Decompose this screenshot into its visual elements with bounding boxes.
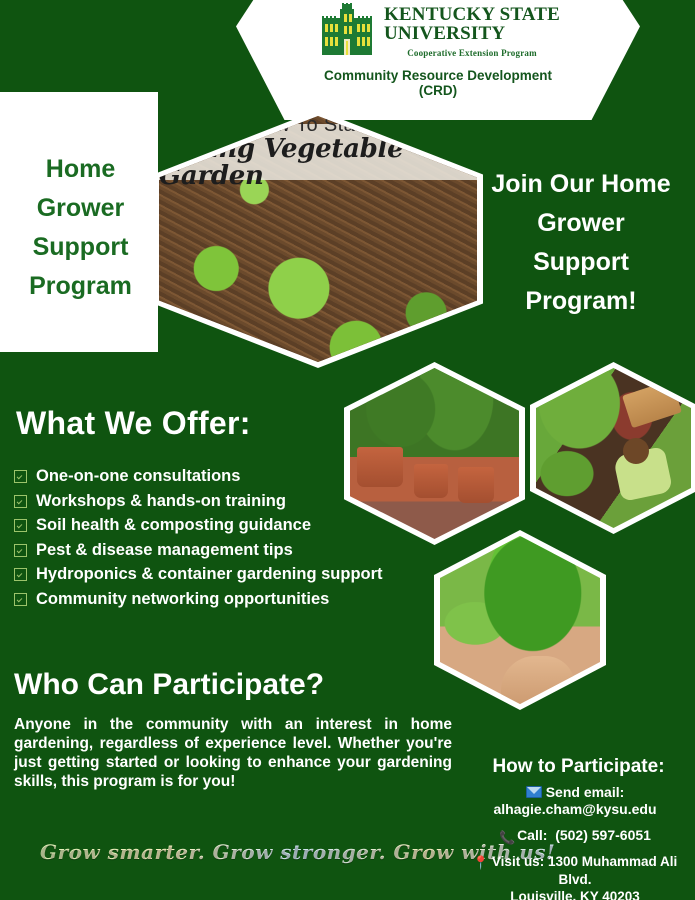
list-item: Pest & disease management tips [14,540,474,560]
address-line-3: Louisville, KY 40203 [455,888,695,900]
phone-label: Call: [517,827,547,843]
logo-row: KENTUCKY STATE UNIVERSITY Cooperative Ex… [316,2,560,65]
list-item-label: Community networking opportunities [36,589,329,609]
university-line-2: UNIVERSITY [384,24,560,43]
left-panel-line-1: Home [8,150,153,189]
list-item: Workshops & hands-on training [14,491,474,511]
list-item-label: Workshops & hands-on training [36,491,286,511]
left-panel-line-2: Grower [8,189,153,228]
checkbox-icon [14,495,27,508]
spacer [455,844,695,853]
hero-caption-line2: Spring Vegetable Garden [159,136,477,190]
hero-photo: How To Start A Spring Vegetable Garden [159,116,477,362]
department-line-1: Community Resource Development [324,68,552,83]
phone-value: (502) 597-6051 [555,827,651,843]
spacer [455,818,695,827]
list-item-label: Soil health & composting guidance [36,515,311,535]
checkbox-icon [14,519,27,532]
left-panel-line-3: Support [8,228,153,267]
offer-list: One-on-one consultations Workshops & han… [14,466,474,613]
address-label: Visit us: [492,854,544,869]
contact-title: How to Participate: [466,756,691,778]
left-panel-text: Home Grower Support Program [8,150,153,306]
contact-phone-row[interactable]: 📞Call: (502) 597-6051 [455,827,695,844]
list-item-label: Hydroponics & container gardening suppor… [36,564,383,584]
list-item: Soil health & composting guidance [14,515,474,535]
contact-email-value[interactable]: alhagie.cham@kysu.edu [455,801,695,818]
contact-address-row[interactable]: 📍Visit us: 1300 Muhammad Ali [455,853,695,871]
university-name: KENTUCKY STATE UNIVERSITY Cooperative Ex… [384,5,560,63]
department-line-2: (CRD) [324,83,552,98]
email-label: Send email: [546,784,625,800]
flyer-page: How To Start A Spring Vegetable Garden H… [0,0,695,900]
contact-email-row[interactable]: Send email: [455,784,695,801]
list-item-label: One-on-one consultations [36,466,240,486]
map-pin-icon: 📍 [473,854,489,871]
university-subtitle: Cooperative Extension Program [384,44,560,63]
person-head-shape [623,438,649,464]
department-name: Community Resource Development (CRD) [324,68,552,98]
right-panel-line-2: Grower [470,204,692,243]
checkbox-icon [14,593,27,606]
participate-body: Anyone in the community with an interest… [14,715,452,791]
right-panel-line-3: Support [470,243,692,282]
envelope-icon [526,786,542,798]
participate-title: Who Can Participate? [14,668,324,702]
university-building-icon [316,2,378,65]
offer-title: What We Offer: [16,405,251,442]
header: KENTUCKY STATE UNIVERSITY Cooperative Ex… [236,0,640,118]
right-panel-line-4: Program! [470,282,692,321]
hero-caption: How To Start A Spring Vegetable Garden [159,124,477,180]
list-item-label: Pest & disease management tips [36,540,293,560]
checkbox-icon [14,544,27,557]
phone-icon: 📞 [499,831,512,844]
right-panel-text: Join Our Home Grower Support Program! [470,165,692,321]
address-line-1: 1300 Muhammad Ali [548,854,677,869]
list-item: Community networking opportunities [14,589,474,609]
left-panel-line-4: Program [8,267,153,306]
contact-block: Send email: alhagie.cham@kysu.edu 📞Call:… [455,784,695,900]
university-line-1: KENTUCKY STATE [384,5,560,24]
address-line-2: Blvd. [455,871,695,888]
checkbox-icon [14,568,27,581]
list-item: One-on-one consultations [14,466,474,486]
list-item: Hydroponics & container gardening suppor… [14,564,474,584]
right-panel-line-1: Join Our Home [470,165,692,204]
checkbox-icon [14,470,27,483]
